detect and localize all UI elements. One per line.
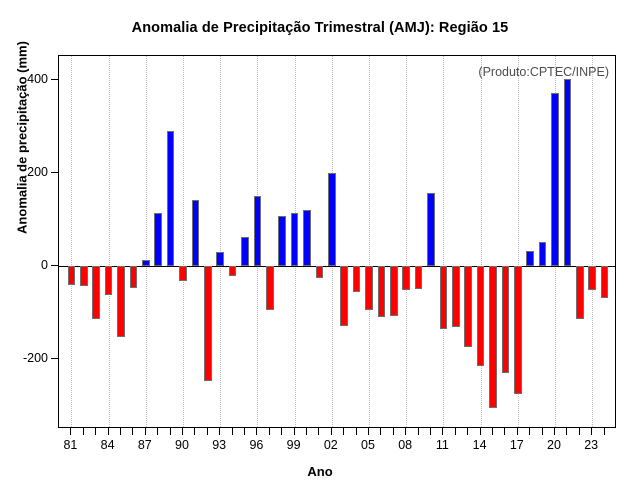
gridline-vertical xyxy=(183,56,184,427)
x-tick-label: 05 xyxy=(361,438,375,452)
bar-1983 xyxy=(92,266,100,319)
bar-2020 xyxy=(551,93,559,266)
y-tick xyxy=(51,358,58,359)
gridline-vertical xyxy=(220,56,221,427)
x-tick-label: 84 xyxy=(101,438,115,452)
x-tick xyxy=(380,428,381,435)
x-tick xyxy=(331,428,332,435)
chart-page: Anomalia de Precipitação Trimestral (AMJ… xyxy=(0,0,640,500)
x-tick-label: 96 xyxy=(249,438,263,452)
x-tick xyxy=(343,428,344,435)
bar-2009 xyxy=(415,266,423,289)
bar-2005 xyxy=(365,266,373,310)
x-tick-label: 90 xyxy=(175,438,189,452)
x-tick xyxy=(492,428,493,435)
x-tick xyxy=(455,428,456,435)
x-tick xyxy=(269,428,270,435)
x-tick-label: 11 xyxy=(436,438,449,452)
bar-2000 xyxy=(303,210,311,266)
y-axis-title: Anomalia de precipitação (mm) xyxy=(15,13,30,263)
bar-1992 xyxy=(204,266,212,381)
plot-area: (Produto:CPTEC/INPE) xyxy=(58,55,616,428)
bar-2008 xyxy=(402,266,410,290)
x-tick xyxy=(132,428,133,435)
x-tick xyxy=(182,428,183,435)
x-tick xyxy=(120,428,121,435)
x-tick xyxy=(393,428,394,435)
bar-2023 xyxy=(588,266,596,290)
bar-1987 xyxy=(142,260,150,266)
bar-1984 xyxy=(105,266,113,295)
y-tick xyxy=(51,172,58,173)
x-tick xyxy=(157,428,158,435)
bar-2022 xyxy=(576,266,584,319)
bar-1991 xyxy=(192,200,200,266)
bar-1989 xyxy=(167,131,175,266)
chart-annotation: (Produto:CPTEC/INPE) xyxy=(478,65,609,79)
bar-2003 xyxy=(340,266,348,326)
x-tick xyxy=(145,428,146,435)
bar-1993 xyxy=(216,252,224,266)
y-tick xyxy=(51,79,58,80)
y-tick-label: 0 xyxy=(41,258,48,272)
bar-2006 xyxy=(378,266,386,317)
bar-1981 xyxy=(68,266,76,285)
x-tick xyxy=(442,428,443,435)
bar-2012 xyxy=(452,266,460,327)
bar-2002 xyxy=(328,173,336,266)
x-tick xyxy=(529,428,530,435)
x-tick xyxy=(517,428,518,435)
bar-2010 xyxy=(427,193,435,266)
gridline-vertical xyxy=(406,56,407,427)
x-tick xyxy=(480,428,481,435)
x-tick-label: 87 xyxy=(138,438,152,452)
zero-baseline xyxy=(59,266,615,267)
x-tick xyxy=(256,428,257,435)
x-tick-label: 23 xyxy=(584,438,598,452)
x-tick xyxy=(356,428,357,435)
gridline-vertical xyxy=(481,56,482,427)
x-tick-label: 99 xyxy=(287,438,301,452)
x-tick xyxy=(542,428,543,435)
gridline-vertical xyxy=(71,56,72,427)
x-tick-label: 93 xyxy=(212,438,226,452)
x-tick xyxy=(244,428,245,435)
y-tick-label: -200 xyxy=(23,351,48,365)
x-tick xyxy=(579,428,580,435)
x-tick xyxy=(405,428,406,435)
x-tick-label: 20 xyxy=(547,438,561,452)
x-tick xyxy=(232,428,233,435)
x-tick-label: 17 xyxy=(510,438,524,452)
x-tick-label: 02 xyxy=(324,438,338,452)
x-tick-label: 81 xyxy=(63,438,77,452)
x-tick xyxy=(294,428,295,435)
y-tick-label: 400 xyxy=(27,72,48,86)
bar-2016 xyxy=(502,266,510,373)
bar-1982 xyxy=(80,266,88,286)
plot-inner xyxy=(59,56,615,427)
x-tick xyxy=(306,428,307,435)
chart-title: Anomalia de Precipitação Trimestral (AMJ… xyxy=(0,20,640,36)
x-tick xyxy=(554,428,555,435)
x-tick xyxy=(430,428,431,435)
bar-1990 xyxy=(179,266,187,281)
x-tick xyxy=(108,428,109,435)
gridline-vertical xyxy=(443,56,444,427)
x-tick xyxy=(604,428,605,435)
bar-1999 xyxy=(291,213,299,266)
bar-2019 xyxy=(539,242,547,266)
bar-1988 xyxy=(154,213,162,266)
x-tick xyxy=(591,428,592,435)
x-tick xyxy=(219,428,220,435)
gridline-vertical xyxy=(146,56,147,427)
bar-1998 xyxy=(278,216,286,266)
bar-2014 xyxy=(477,266,485,366)
x-tick xyxy=(418,428,419,435)
bar-1985 xyxy=(117,266,125,337)
bar-2024 xyxy=(601,266,609,298)
x-tick-label: 08 xyxy=(398,438,412,452)
bar-1997 xyxy=(266,266,274,310)
x-tick xyxy=(368,428,369,435)
x-tick xyxy=(95,428,96,435)
bar-1995 xyxy=(241,237,249,266)
bar-1996 xyxy=(254,196,262,266)
bar-2001 xyxy=(316,266,324,278)
y-tick-label: 200 xyxy=(27,165,48,179)
gridline-vertical xyxy=(109,56,110,427)
bar-2015 xyxy=(489,266,497,408)
x-tick xyxy=(194,428,195,435)
x-tick xyxy=(504,428,505,435)
x-tick xyxy=(467,428,468,435)
bar-2007 xyxy=(390,266,398,316)
bar-2013 xyxy=(464,266,472,347)
bar-1986 xyxy=(130,266,138,288)
bar-1994 xyxy=(229,266,237,276)
bar-2018 xyxy=(526,251,534,266)
x-tick xyxy=(170,428,171,435)
bar-2011 xyxy=(440,266,448,329)
x-tick xyxy=(83,428,84,435)
gridline-vertical xyxy=(369,56,370,427)
gridline-vertical xyxy=(592,56,593,427)
x-tick-label: 14 xyxy=(473,438,487,452)
x-axis-title: Ano xyxy=(0,464,640,479)
bar-2021 xyxy=(564,79,572,266)
bar-2004 xyxy=(353,266,361,292)
x-tick xyxy=(566,428,567,435)
y-tick xyxy=(51,265,58,266)
x-tick xyxy=(281,428,282,435)
x-tick xyxy=(70,428,71,435)
x-tick xyxy=(318,428,319,435)
bar-2017 xyxy=(514,266,522,394)
x-tick xyxy=(207,428,208,435)
